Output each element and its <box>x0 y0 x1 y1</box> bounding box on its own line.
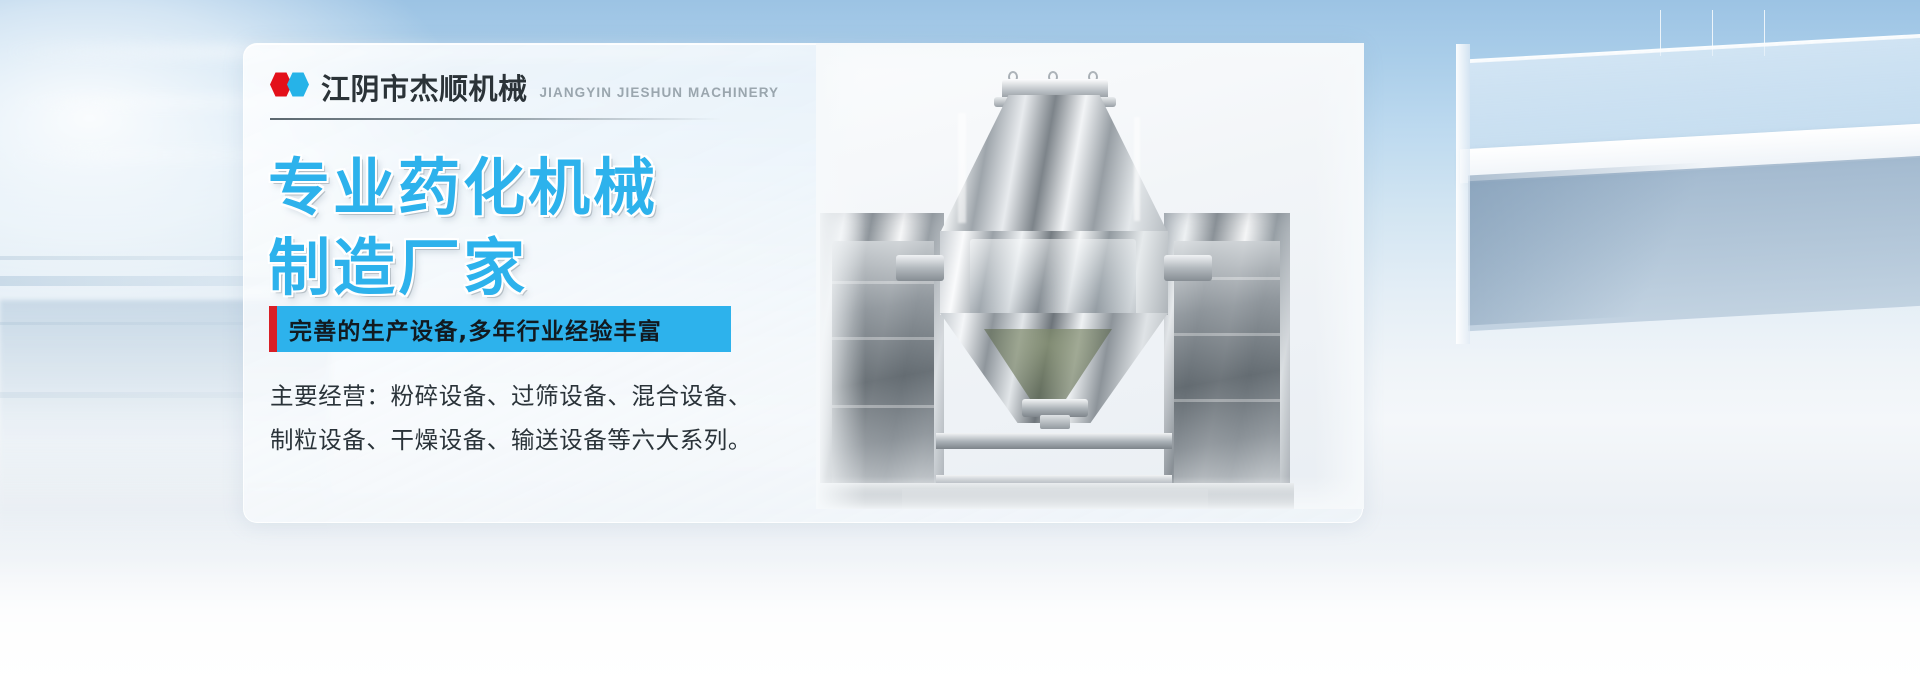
product-photo <box>816 43 1364 509</box>
company-name-en: JIANGYIN JIESHUN MACHINERY <box>540 85 780 100</box>
trunnion-shaft-right <box>1164 255 1212 281</box>
highlight-banner: 完善的生产设备,多年行业经验丰富 <box>269 306 731 352</box>
discharge-valve <box>1040 415 1070 429</box>
architecture-backdrop <box>1360 0 1920 420</box>
building-pillar <box>1456 44 1470 344</box>
hexagon-blue-icon <box>287 72 309 97</box>
logo-divider <box>270 118 722 120</box>
description-text: 主要经营：粉碎设备、过筛设备、混合设备、 制粒设备、干燥设备、输送设备等六大系列… <box>270 374 790 462</box>
bottom-mist <box>0 510 1920 700</box>
company-name-cn: 江阴市杰顺机械 <box>321 75 528 104</box>
logo-mark <box>270 72 309 97</box>
headline: 专业药化机械 制造厂家 <box>268 148 658 308</box>
double-cone-dryer-illustration <box>816 43 1364 509</box>
trunnion-shaft-left <box>896 255 944 281</box>
highlight-text: 完善的生产设备,多年行业经验丰富 <box>289 312 662 346</box>
logo-lockup[interactable]: 江阴市杰顺机械 JIANGYIN JIESHUN MACHINERY <box>270 72 779 104</box>
content-card: 江阴市杰顺机械 JIANGYIN JIESHUN MACHINERY 专业药化机… <box>243 43 1363 523</box>
hero-banner: 江阴市杰顺机械 JIANGYIN JIESHUN MACHINERY 专业药化机… <box>0 0 1920 700</box>
vessel-highlight <box>970 239 1136 325</box>
cross-brace <box>936 433 1172 449</box>
machine-base-inner <box>902 489 1208 509</box>
